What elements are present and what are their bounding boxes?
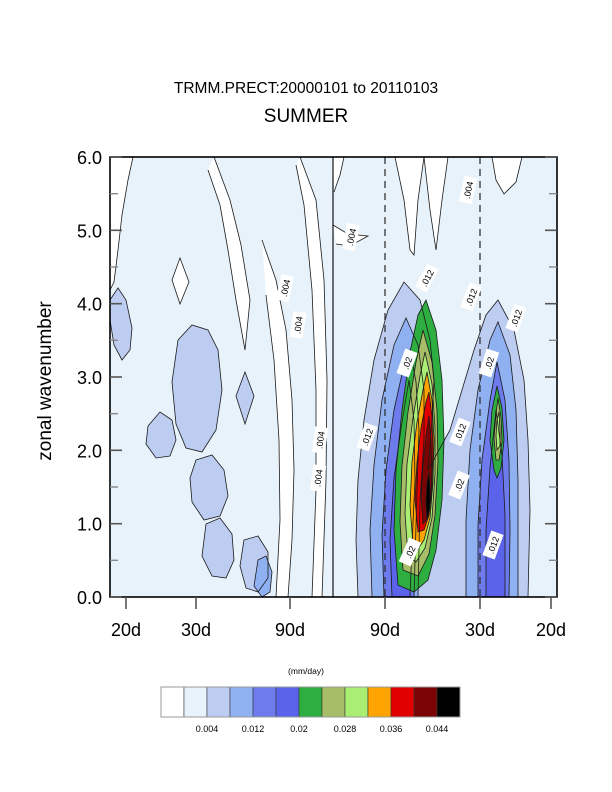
y-tick-label: 0.0 xyxy=(77,588,102,608)
colorbar-cell xyxy=(207,687,230,717)
colorbar-cell xyxy=(276,687,299,717)
colorbar-cell xyxy=(368,687,391,717)
colorbar-tick-label: 0.036 xyxy=(380,724,403,734)
y-tick-label: 1.0 xyxy=(77,515,102,535)
westward-contour-fills xyxy=(110,157,333,597)
colorbar-cell xyxy=(345,687,368,717)
x-tick-label: 90d xyxy=(370,620,400,640)
colorbar: 0.0040.0120.020.0280.0360.044 xyxy=(161,687,460,734)
colorbar-cell xyxy=(184,687,207,717)
colorbar-tick-label: 0.012 xyxy=(242,724,265,734)
y-tick-label: 2.0 xyxy=(77,441,102,461)
x-tick-label: 20d xyxy=(536,620,566,640)
colorbar-cell xyxy=(253,687,276,717)
contour-plot: .004 .004 .004 .004 .004 .004 xyxy=(0,0,612,792)
y-tick-label: 5.0 xyxy=(77,221,102,241)
colorbar-cell xyxy=(161,687,184,717)
x-tick-label: 90d xyxy=(275,620,305,640)
colorbar-tick-label: 0.028 xyxy=(334,724,357,734)
colorbar-tick-label: 0.004 xyxy=(196,724,219,734)
y-tick-label: 6.0 xyxy=(77,148,102,168)
y-tick-label: 3.0 xyxy=(77,368,102,388)
x-tick-label: 20d xyxy=(111,620,141,640)
colorbar-cell xyxy=(437,687,460,717)
x-tick-label: 30d xyxy=(181,620,211,640)
x-axis-tick-labels: 20d 30d 90d 90d 30d 20d xyxy=(111,620,566,640)
x-axis-major-ticks xyxy=(126,597,551,609)
colorbar-cell xyxy=(391,687,414,717)
colorbar-tick-label: 0.02 xyxy=(290,724,308,734)
y-tick-label: 4.0 xyxy=(77,295,102,315)
colorbar-cell xyxy=(230,687,253,717)
colorbar-cell xyxy=(299,687,322,717)
colorbar-tick-label: 0.044 xyxy=(426,724,449,734)
colorbar-cell xyxy=(414,687,437,717)
colorbar-cell xyxy=(322,687,345,717)
y-axis-tick-labels: 0.0 1.0 2.0 3.0 4.0 5.0 6.0 xyxy=(77,148,102,608)
x-tick-label: 30d xyxy=(465,620,495,640)
figure-page: TRMM.PRECT:20000101 to 20110103 SUMMER z… xyxy=(0,0,612,792)
